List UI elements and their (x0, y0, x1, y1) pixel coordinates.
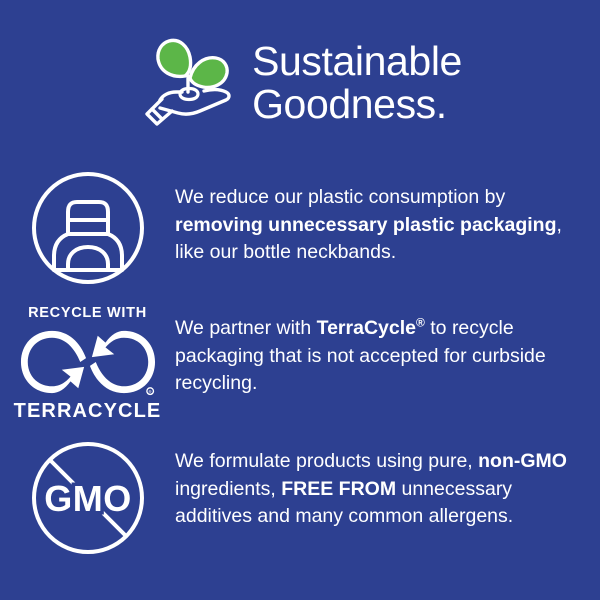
bottle-neckband-circle-icon (30, 170, 146, 286)
gmo-label: GMO (44, 478, 132, 519)
text-part-bold: non-GMO (478, 450, 567, 472)
text-part-bold: removing unnecessary plastic packaging (175, 214, 556, 236)
infinity-arrows-icon: R (20, 326, 156, 398)
title-line-2: Goodness. (252, 83, 462, 126)
text-part: We partner with (175, 317, 317, 339)
feature-icon-slot: GMO (0, 438, 175, 556)
feature-row-terracycle: RECYCLE WITH R TERRACYCLE We partner wit… (0, 303, 600, 422)
sustainability-infographic: Sustainable Goodness. We re (0, 0, 600, 600)
text-part: We reduce our plastic consumption by (175, 186, 505, 208)
terracycle-bottom-label: TERRACYCLE (14, 400, 162, 422)
text-part: We formulate products using pure, (175, 450, 478, 472)
feature-row-plastic: We reduce our plastic consumption by rem… (0, 168, 600, 286)
text-part-bold: FREE FROM (281, 478, 396, 500)
text-part-bold: TerraCycle (317, 317, 416, 339)
feature-text-plastic: We reduce our plastic consumption by rem… (175, 168, 600, 267)
text-part: ingredients, (175, 478, 281, 500)
no-gmo-icon: GMO (30, 440, 146, 556)
header: Sustainable Goodness. (0, 22, 600, 142)
registered-mark: ® (416, 316, 425, 330)
feature-icon-slot: RECYCLE WITH R TERRACYCLE (0, 303, 175, 422)
terracycle-top-label: RECYCLE WITH (28, 305, 147, 321)
terracycle-logo: RECYCLE WITH R TERRACYCLE (15, 305, 160, 422)
page-title: Sustainable Goodness. (252, 40, 462, 126)
hand-holding-sprout-icon (138, 32, 238, 132)
feature-icon-slot (0, 168, 175, 286)
title-line-1: Sustainable (252, 40, 462, 83)
feature-text-gmo: We formulate products using pure, non-GM… (175, 438, 600, 531)
feature-text-terracycle: We partner with TerraCycle® to recycle p… (175, 303, 600, 398)
feature-row-gmo: GMO We formulate products using pure, no… (0, 438, 600, 556)
